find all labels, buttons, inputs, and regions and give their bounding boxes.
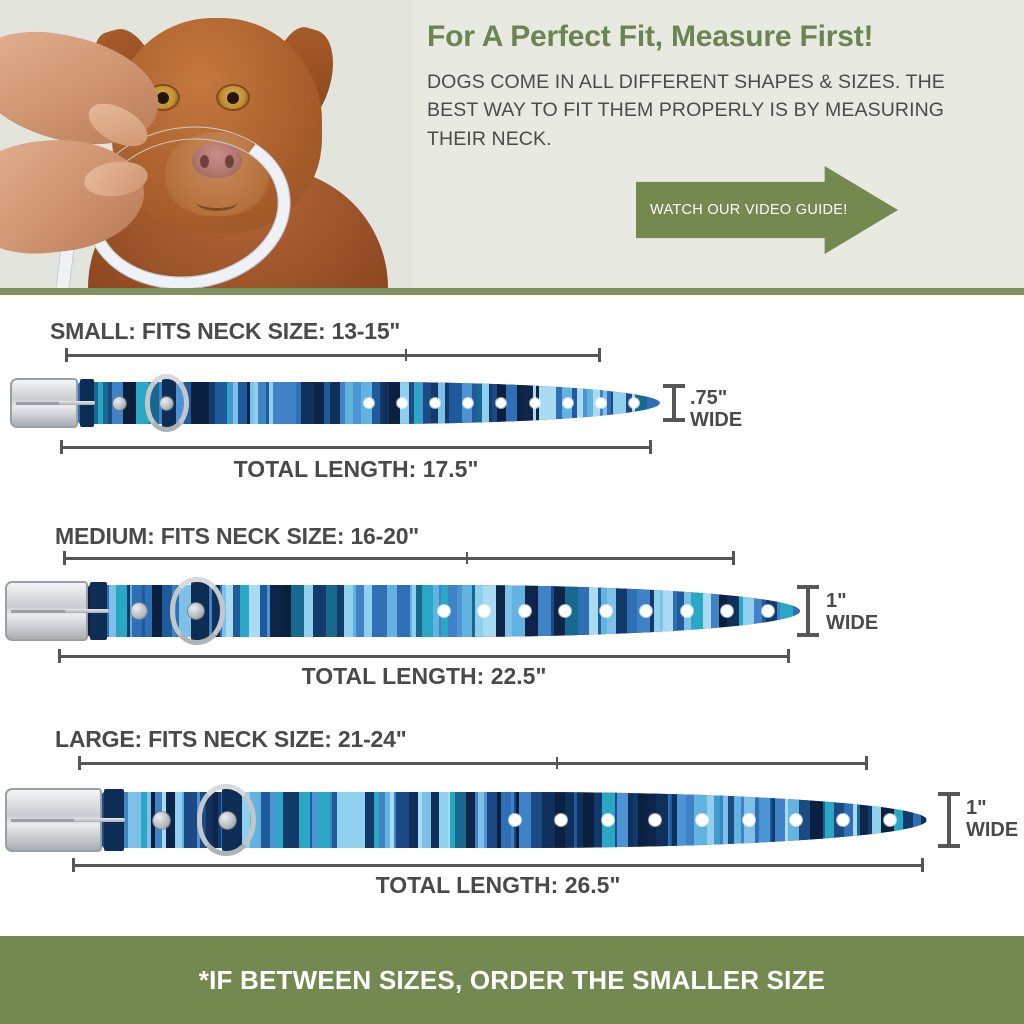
width-stem	[806, 585, 810, 637]
collar-rivet-1	[153, 812, 170, 829]
bracket-cap-end	[598, 348, 601, 362]
collar-punch-hole	[629, 398, 639, 408]
video-guide-arrow-button[interactable]: WATCH OUR VIDEO GUIDE!	[636, 166, 898, 254]
size-title-small: SMALL: FITS NECK SIZE: 13-15"	[50, 318, 400, 345]
width-label-medium: 1"WIDE	[826, 591, 878, 634]
total-length-bracket-medium	[58, 649, 790, 663]
bracket-cap-end	[787, 649, 790, 663]
collar-punch-hole	[438, 605, 450, 617]
collar-punch-hole	[790, 814, 802, 826]
width-value: 1"	[966, 798, 1018, 820]
collar-rivet-2	[160, 397, 173, 410]
bracket-bar	[78, 762, 868, 765]
collar-punch-hole	[519, 605, 531, 617]
width-indicator-small	[663, 384, 685, 422]
width-stem	[947, 792, 951, 848]
collar-punch-hole	[509, 814, 521, 826]
video-guide-label: WATCH OUR VIDEO GUIDE!	[650, 202, 848, 218]
collar-punch-hole	[596, 398, 606, 408]
total-length-label-small: TOTAL LENGTH: 17.5"	[60, 456, 652, 483]
collar-punch-hole	[563, 398, 573, 408]
width-label-small: .75"WIDE	[690, 388, 742, 431]
width-unit: WIDE	[826, 613, 878, 635]
width-value: .75"	[690, 388, 742, 410]
footer-note: *IF BETWEEN SIZES, ORDER THE SMALLER SIZ…	[199, 965, 825, 996]
collar-punch-hole	[600, 605, 612, 617]
dog-eye-right	[218, 86, 248, 109]
width-indicator-large	[938, 792, 960, 848]
bracket-bar	[58, 655, 790, 658]
neck-size-bracket-small	[65, 348, 601, 362]
bracket-cap-end	[649, 440, 652, 454]
header-text-block: For A Perfect Fit, Measure First! DOGS C…	[427, 20, 997, 153]
bracket-cap-end	[732, 551, 735, 565]
total-length-bracket-large	[72, 858, 924, 872]
collar-punch-hole	[530, 398, 540, 408]
collar-rivet-1	[113, 397, 126, 410]
bracket-cap-start	[65, 348, 68, 362]
total-length-label-large: TOTAL LENGTH: 26.5"	[72, 872, 924, 899]
collar-small	[10, 382, 660, 424]
bracket-bar	[65, 354, 601, 357]
width-unit: WIDE	[966, 820, 1018, 842]
footer-note-bar: *IF BETWEEN SIZES, ORDER THE SMALLER SIZ…	[0, 936, 1024, 1024]
width-serif-bottom	[663, 418, 685, 422]
collar-punch-hole	[364, 398, 374, 408]
width-indicator-medium	[797, 585, 819, 637]
total-length-bracket-small	[60, 440, 652, 454]
header-divider	[0, 288, 1024, 295]
bracket-bar	[63, 557, 735, 560]
header-banner: For A Perfect Fit, Measure First! DOGS C…	[0, 0, 1024, 288]
page-title: For A Perfect Fit, Measure First!	[427, 20, 997, 54]
width-value: 1"	[826, 591, 878, 613]
bracket-cap-end	[921, 858, 924, 872]
collar-medium	[5, 585, 800, 637]
collar-punch-hole	[743, 814, 755, 826]
width-label-large: 1"WIDE	[966, 798, 1018, 841]
neck-size-bracket-large	[78, 756, 868, 770]
collar-punch-hole	[681, 605, 693, 617]
width-serif-bottom	[797, 633, 819, 637]
dog-measuring-photo	[0, 0, 412, 288]
bracket-bar	[72, 864, 924, 867]
collar-punch-hole	[884, 814, 896, 826]
bracket-bar	[60, 446, 652, 449]
bracket-cap-start	[78, 756, 81, 770]
size-title-large: LARGE: FITS NECK SIZE: 21-24"	[55, 726, 406, 753]
collar-rivet-2	[219, 812, 236, 829]
width-stem	[672, 384, 676, 422]
collar-large	[5, 792, 927, 848]
bracket-cap-start	[63, 551, 66, 565]
bracket-cap-end	[865, 756, 868, 770]
bracket-cap-start	[60, 440, 63, 454]
bracket-cap-start	[58, 649, 61, 663]
header-description: DOGS COME IN ALL DIFFERENT SHAPES & SIZE…	[427, 68, 997, 153]
size-title-medium: MEDIUM: FITS NECK SIZE: 16-20"	[55, 523, 419, 550]
buckle-prong	[65, 609, 109, 613]
bracket-cap-start	[72, 858, 75, 872]
collar-punch-hole	[762, 605, 774, 617]
width-unit: WIDE	[690, 410, 742, 432]
bracket-tick	[466, 552, 468, 564]
buckle-prong	[74, 818, 125, 822]
total-length-label-medium: TOTAL LENGTH: 22.5"	[58, 663, 790, 690]
buckle-prong	[59, 401, 95, 405]
bracket-tick	[405, 349, 407, 361]
bracket-tick	[556, 757, 558, 769]
collar-punch-hole	[837, 814, 849, 826]
neck-size-bracket-medium	[63, 551, 735, 565]
width-serif-bottom	[938, 844, 960, 848]
